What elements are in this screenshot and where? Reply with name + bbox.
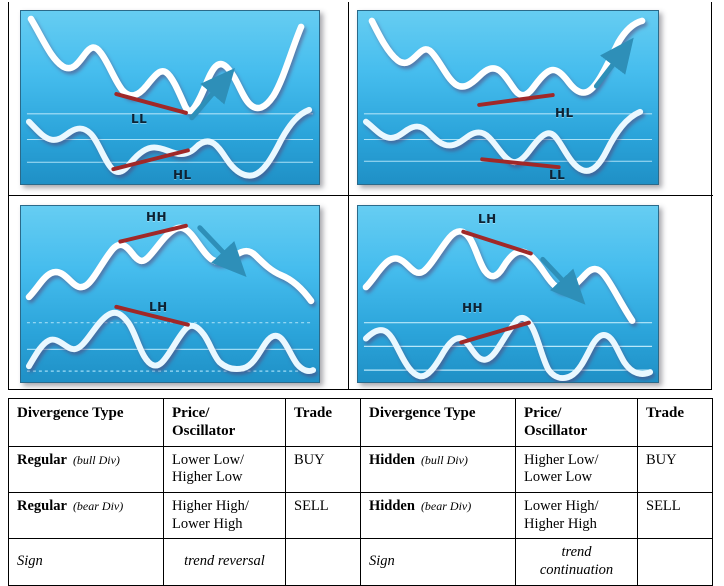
cell-trade-right: BUY bbox=[638, 446, 713, 492]
header-text-line2: Oscillator bbox=[172, 423, 235, 439]
panel-cell-regular-bearish: HH LH bbox=[9, 196, 349, 389]
sign-text: Sign bbox=[17, 553, 43, 569]
panel-cell-hidden-bearish: LH HH bbox=[349, 196, 713, 389]
sign-meaning: trend reversal bbox=[184, 553, 265, 569]
header-text-line1: Price/ bbox=[172, 405, 209, 421]
cell-divergence-type-left: Regular(bear Div) bbox=[9, 492, 164, 538]
po-line1: Lower Low/ bbox=[172, 452, 244, 468]
header-divergence-type-right: Divergence Type bbox=[361, 399, 516, 447]
header-trade-right: Trade bbox=[638, 399, 713, 447]
cell-price-oscillator-left: Lower Low/ Higher Low bbox=[164, 446, 286, 492]
divergence-summary-table: Divergence Type Price/ Oscillator Trade … bbox=[8, 398, 713, 586]
chart-regular-bullish bbox=[20, 10, 320, 185]
screenshot-root: LL HL bbox=[0, 0, 724, 573]
po-line2: Higher High bbox=[524, 516, 597, 532]
cell-trade-right: SELL bbox=[638, 492, 713, 538]
divergence-type-qualifier: (bear Div) bbox=[73, 499, 123, 513]
cell-sign-value-left: trend reversal bbox=[164, 539, 286, 585]
table-row: Regular(bull Div) Lower Low/ Higher Low … bbox=[9, 446, 713, 492]
header-text: Trade bbox=[646, 405, 684, 421]
trade-action: BUY bbox=[646, 452, 677, 468]
cell-trade-left: SELL bbox=[286, 492, 361, 538]
po-line2: Higher Low bbox=[172, 469, 242, 485]
cell-trade-left: BUY bbox=[286, 446, 361, 492]
header-price-oscillator-right: Price/ Oscillator bbox=[516, 399, 638, 447]
cell-sign-trade-right bbox=[638, 539, 713, 585]
header-divergence-type-left: Divergence Type bbox=[9, 399, 164, 447]
sign-text: Sign bbox=[369, 553, 395, 569]
chart-hidden-bearish bbox=[357, 205, 659, 383]
cell-sign-label-right: Sign bbox=[361, 539, 516, 585]
trade-action: SELL bbox=[294, 498, 329, 514]
table-row: Regular(bear Div) Higher High/ Lower Hig… bbox=[9, 492, 713, 538]
cell-price-oscillator-left: Higher High/ Lower High bbox=[164, 492, 286, 538]
cell-divergence-type-right: Hidden(bull Div) bbox=[361, 446, 516, 492]
divergence-type-name: Regular bbox=[17, 498, 67, 514]
trade-action: SELL bbox=[646, 498, 681, 514]
divergence-panel-grid: LL HL bbox=[8, 2, 712, 390]
header-text: Trade bbox=[294, 405, 332, 421]
table-row-sign: Sign trend reversal Sign trend continuat… bbox=[9, 539, 713, 585]
divergence-type-qualifier: (bull Div) bbox=[421, 453, 468, 467]
chart-hidden-bullish bbox=[357, 10, 659, 185]
po-line2: Lower Low bbox=[524, 469, 592, 485]
panel-cell-regular-bullish: LL HL bbox=[9, 2, 349, 196]
header-text-line2: Oscillator bbox=[524, 423, 587, 439]
cell-sign-value-right: trend continuation bbox=[516, 539, 638, 585]
table-header-row: Divergence Type Price/ Oscillator Trade … bbox=[9, 399, 713, 447]
divergence-type-qualifier: (bull Div) bbox=[73, 453, 120, 467]
trade-action: BUY bbox=[294, 452, 325, 468]
cell-price-oscillator-right: Lower High/ Higher High bbox=[516, 492, 638, 538]
cell-divergence-type-right: Hidden(bear Div) bbox=[361, 492, 516, 538]
divergence-type-name: Hidden bbox=[369, 452, 415, 468]
chart-regular-bearish bbox=[20, 205, 320, 383]
header-text-line1: Price/ bbox=[524, 405, 561, 421]
panel-cell-hidden-bullish: HL LL bbox=[349, 2, 713, 196]
cell-sign-trade-left bbox=[286, 539, 361, 585]
divergence-type-name: Hidden bbox=[369, 498, 415, 514]
po-line1: Higher High/ bbox=[172, 498, 249, 514]
header-trade-left: Trade bbox=[286, 399, 361, 447]
divergence-type-qualifier: (bear Div) bbox=[421, 499, 471, 513]
header-text: Divergence Type bbox=[369, 405, 476, 421]
po-line1: Higher Low/ bbox=[524, 452, 599, 468]
header-price-oscillator-left: Price/ Oscillator bbox=[164, 399, 286, 447]
po-line2: Lower High bbox=[172, 516, 242, 532]
cell-sign-label-left: Sign bbox=[9, 539, 164, 585]
po-line1: Lower High/ bbox=[524, 498, 599, 514]
cell-divergence-type-left: Regular(bull Div) bbox=[9, 446, 164, 492]
divergence-type-name: Regular bbox=[17, 452, 67, 468]
cell-price-oscillator-right: Higher Low/ Lower Low bbox=[516, 446, 638, 492]
header-text: Divergence Type bbox=[17, 405, 124, 421]
